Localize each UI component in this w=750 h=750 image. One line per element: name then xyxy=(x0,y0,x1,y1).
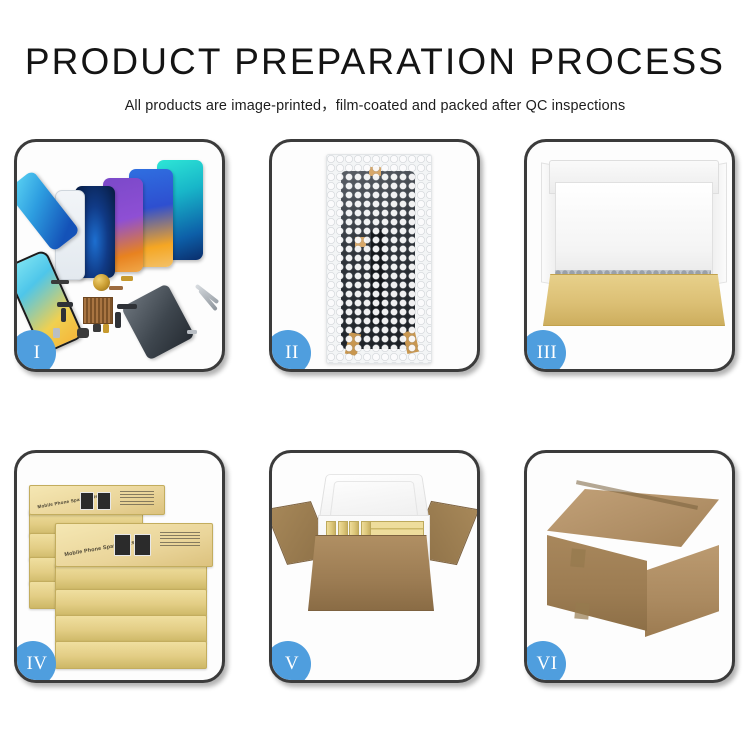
page-title: PRODUCT PREPARATION PROCESS xyxy=(0,0,750,82)
box-face-front: Mobile Phone Spare Parts xyxy=(56,524,212,566)
page-subtitle: All products are image-printed，film-coat… xyxy=(0,82,750,115)
part-flex-cable-a xyxy=(57,302,73,307)
carton-tape-patch-lower xyxy=(574,602,589,619)
step-badge-2: II xyxy=(269,330,311,372)
process-step-panel-5: V xyxy=(269,450,480,683)
part-gold-chip xyxy=(103,324,109,333)
part-gold-connector xyxy=(121,276,133,281)
step-badge-5: V xyxy=(269,641,311,683)
stacked-box-fr-1 xyxy=(55,563,207,591)
process-step-panel-1: I xyxy=(14,139,225,372)
part-speaker xyxy=(51,280,69,284)
yellow-box-base xyxy=(543,274,725,326)
box-thumbnails-back xyxy=(80,492,111,510)
shipping-carton-open xyxy=(308,535,434,611)
step-badge-3: III xyxy=(524,330,566,372)
process-step-panel-6: VI xyxy=(524,450,735,683)
box-thumb-image xyxy=(80,492,94,510)
vibrator-motor-part xyxy=(93,274,110,291)
process-step-panel-3: III xyxy=(524,139,735,372)
process-step-grid: I II xyxy=(14,139,736,695)
carton-top-face xyxy=(547,489,719,547)
step-badge-6: VI xyxy=(524,641,566,683)
part-flex-cable-d xyxy=(115,312,121,328)
process-step-panel-4: Mobile Phone Spare Parts xyxy=(14,450,225,683)
bubble-texture xyxy=(327,155,431,363)
part-flex-cable-c xyxy=(117,304,137,309)
bubble-wrap-bag xyxy=(326,154,432,364)
part-camera-module xyxy=(53,328,60,338)
stacked-box-printed-front: Mobile Phone Spare Parts xyxy=(55,523,213,567)
logic-board-part xyxy=(83,297,113,324)
box-spec-lines-front xyxy=(160,532,200,548)
box-thumb-image xyxy=(134,534,151,556)
product-preparation-infographic: PRODUCT PREPARATION PROCESS All products… xyxy=(0,0,750,750)
step-badge-1: I xyxy=(14,330,56,372)
part-screws xyxy=(187,330,197,334)
box-spec-lines-back xyxy=(120,491,154,507)
part-speaker-box xyxy=(77,328,89,338)
stacked-box-printed-back: Mobile Phone Spare Parts xyxy=(29,485,165,515)
process-step-panel-2: II xyxy=(269,139,480,372)
box-thumb-image xyxy=(97,492,111,510)
carton-side-face xyxy=(645,545,719,637)
box-face-back: Mobile Phone Spare Parts xyxy=(30,486,164,514)
step-badge-4: IV xyxy=(14,641,56,683)
box-stack: Mobile Phone Spare Parts xyxy=(25,471,222,671)
box-thumbnails-front xyxy=(114,534,151,556)
box-thumb-image xyxy=(114,534,131,556)
part-flex-cable-b xyxy=(61,308,66,322)
phone-back-housing xyxy=(121,283,195,360)
header: PRODUCT PREPARATION PROCESS All products… xyxy=(0,0,750,115)
part-button xyxy=(93,324,101,332)
stacked-box-fr-3 xyxy=(55,615,207,643)
carton-tape-patch-upper xyxy=(570,548,586,567)
foam-sheet xyxy=(555,182,713,280)
part-copper-shield xyxy=(109,286,123,290)
stacked-box-fr-2 xyxy=(55,589,207,617)
carton-front-face xyxy=(547,535,647,631)
stacked-box-fr-4 xyxy=(55,641,207,669)
